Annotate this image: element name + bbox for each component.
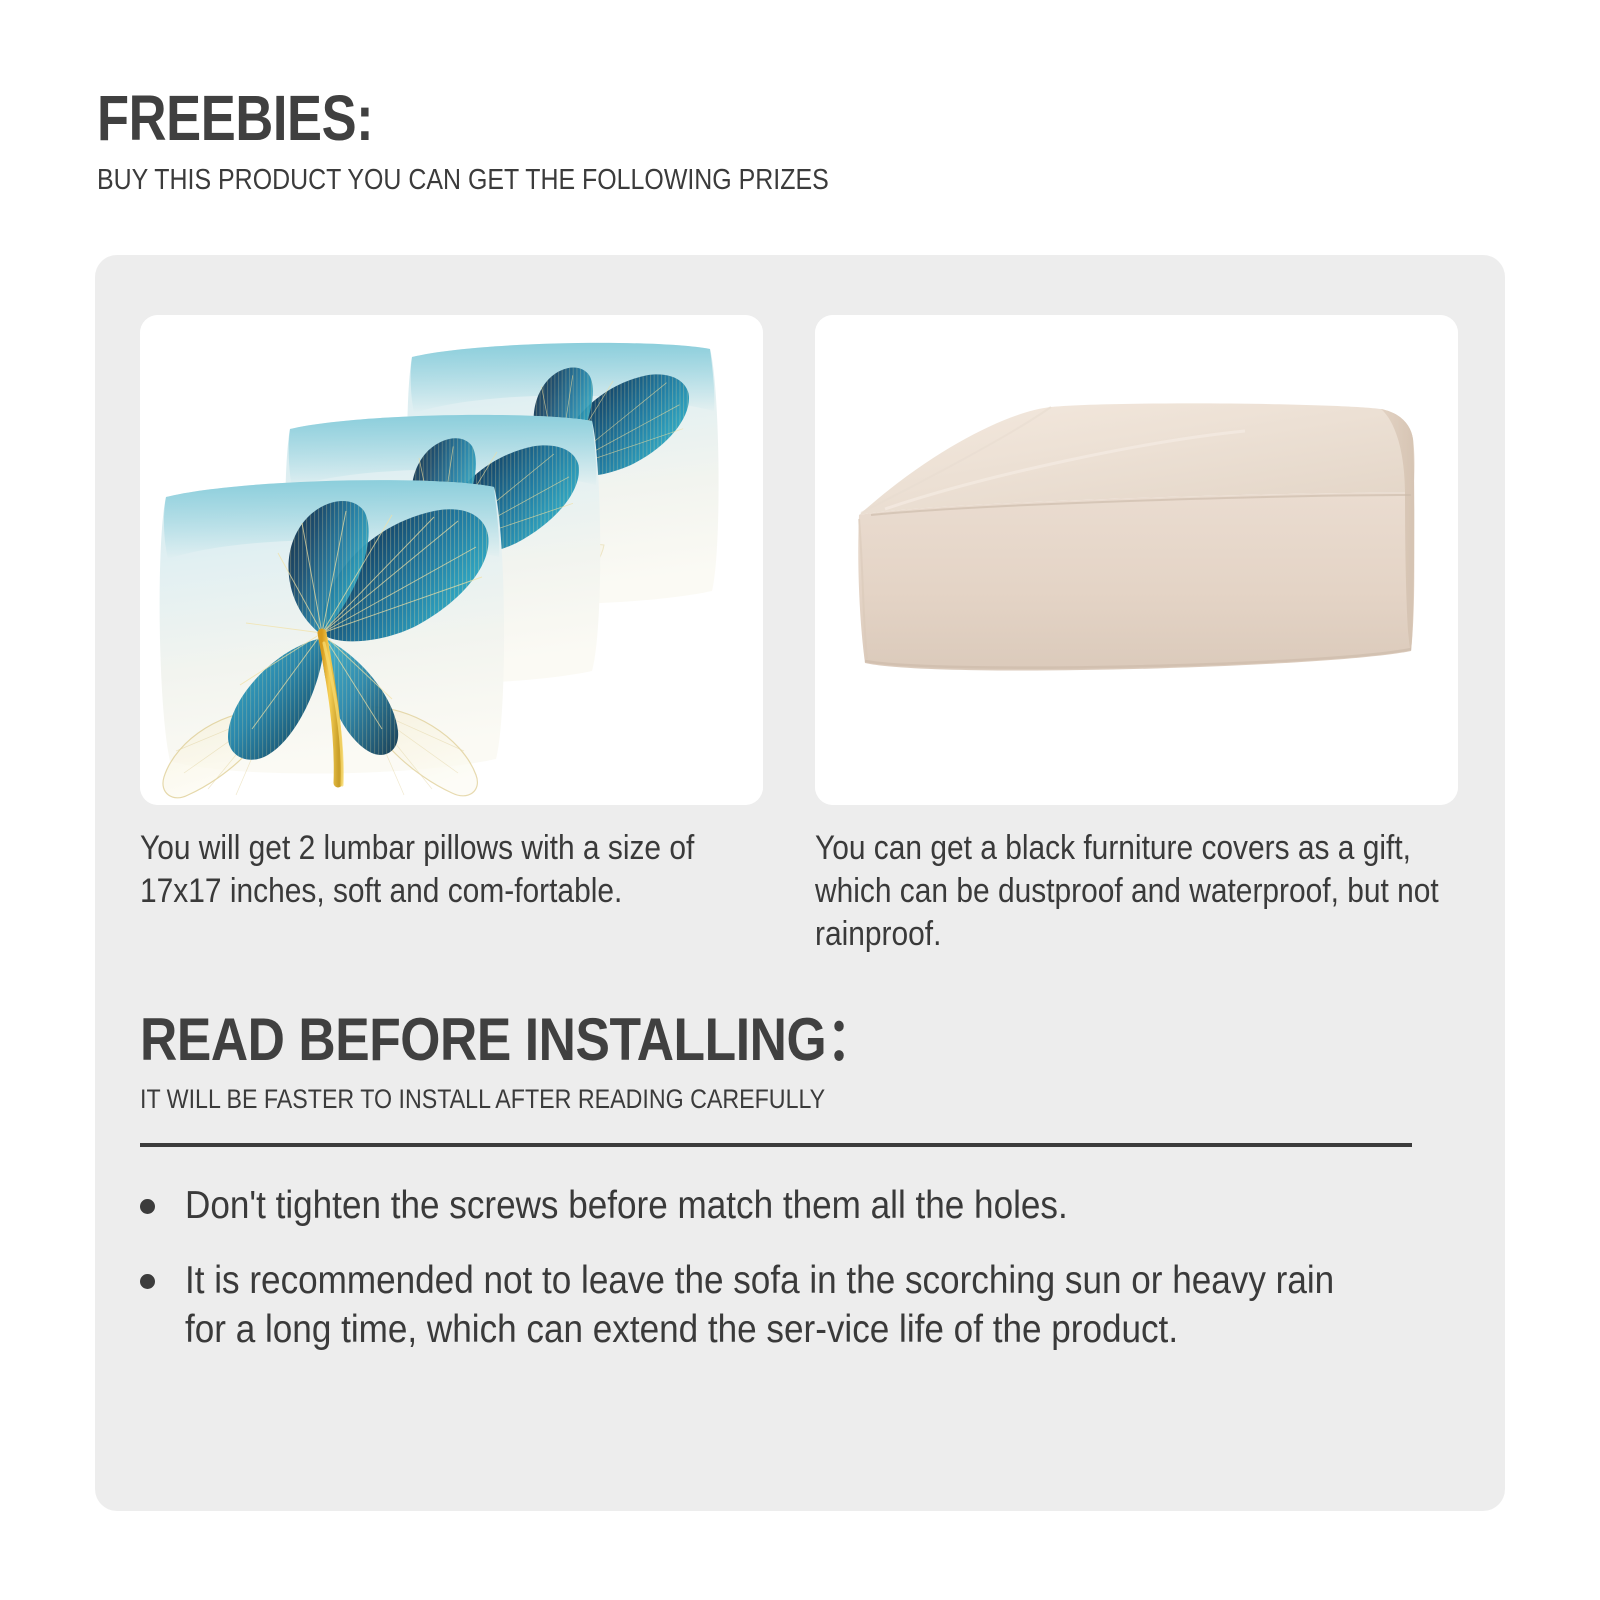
instruction-text: It is recommended not to leave the sofa …	[185, 1256, 1342, 1354]
cover-photo-card	[815, 315, 1458, 805]
furniture-cover-photo	[815, 315, 1458, 805]
freebie-caption-cover: You can get a black furniture covers as …	[815, 827, 1460, 955]
bullet-dot-icon	[140, 1199, 155, 1214]
list-item: Don't tighten the screws before match th…	[140, 1181, 1470, 1230]
freebie-item-pillows: You will get 2 lumbar pillows with a siz…	[140, 315, 763, 913]
list-item: It is recommended not to leave the sofa …	[140, 1256, 1470, 1354]
header: FREEBIES: BUY THIS PRODUCT YOU CAN GET T…	[97, 86, 1497, 195]
freebie-item-cover: You can get a black furniture covers as …	[815, 315, 1458, 955]
cover-illustration-svg	[815, 315, 1458, 805]
instruction-text: Don't tighten the screws before match th…	[185, 1181, 1342, 1230]
content-panel: You will get 2 lumbar pillows with a siz…	[95, 255, 1505, 1511]
pillow-set-photo	[140, 315, 763, 805]
page-subtitle: BUY THIS PRODUCT YOU CAN GET THE FOLLOWI…	[97, 166, 1301, 195]
bullet-dot-icon	[140, 1274, 155, 1289]
section-divider	[140, 1143, 1412, 1147]
pillow-photo-card	[140, 315, 763, 805]
read-section-subtitle: IT WILL BE FASTER TO INSTALL AFTER READI…	[140, 1086, 1284, 1113]
instruction-list: Don't tighten the screws before match th…	[140, 1181, 1470, 1354]
page-title: FREEBIES:	[97, 86, 1245, 150]
pillow-illustration-svg	[140, 315, 763, 805]
freebie-caption-pillows: You will get 2 lumbar pillows with a siz…	[140, 827, 765, 913]
read-section-title: READ BEFORE INSTALLING：	[140, 1010, 1284, 1070]
read-before-installing-section: READ BEFORE INSTALLING： IT WILL BE FASTE…	[140, 1010, 1470, 1380]
